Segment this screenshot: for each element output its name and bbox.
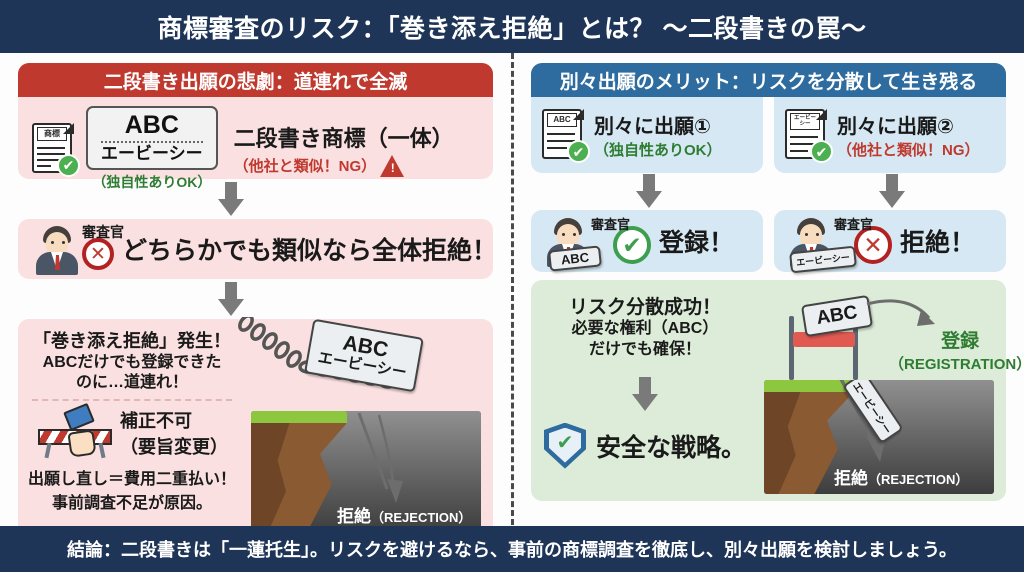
page-title: 商標審査のリスク：「巻き添え拒絶」とは？ ～二段書きの罠～ [158,9,867,45]
app2-doc-label: エービー シー [790,113,820,130]
success-title: リスク分散成功！ [531,292,759,319]
result-line2: ABCだけでも登録できた [18,353,246,373]
left-panel-examiner: 審査官 ✕ どちらかでも類似なら全体拒絶！ [18,219,493,279]
right-panel-header: 別々出願のメリット：リスクを分散して生き残る [531,63,1006,97]
shield-check-icon: ✔ [544,423,586,469]
amendment-barrier-icon [36,407,114,459]
examiner-1-plate: ABC [548,245,602,271]
result-title: 「巻き添え拒絶」発生！ [18,327,246,353]
application-1-document-icon: ABC ✔ [542,109,586,161]
examiner-label: 審査官 [82,222,124,242]
right-panel-success: リスク分散成功！ 必要な権利（ABC） だけでも確保！ ✔ 安全な戦略。 [531,280,1006,501]
conclusion-text: 結論：二段書きは「一蓮托生」。リスクを避けるなら、事前の商標調査を徹底し、別々出… [67,536,957,562]
mark-caption: （独自性ありOK） [86,172,218,192]
conclusion-bar: 結論：二段書きは「一蓮托生」。リスクを避けるなら、事前の商標調査を徹底し、別々出… [0,526,1024,572]
left-arrow-2 [218,282,244,316]
amend-sub: （要旨変更） [120,433,228,459]
trademark-document-icon: 商標 ✔ [32,123,76,175]
app2-sub: （他社と類似！NG） [837,139,980,160]
app1-doc-label: ABC [547,113,577,127]
examiner-1-label: 審査官 [591,214,630,233]
examiner-1-verdict: 登録！ [659,223,734,259]
examiner-avatar-icon [30,224,84,274]
left-panel-title: 二段書き出願の悲劇：道連れで全滅 [104,67,407,94]
examiner-verdict: どちらかでも類似なら全体拒絶！ [122,231,497,267]
examiner-card-2: 審査官 エービーシー ✕ 拒絶！ [774,210,1006,272]
examiner-card-1: 審査官 ABC ✔ 登録！ [531,210,763,272]
registration-label: 登録 （REGISTRATION） [889,326,1024,374]
left-panel-header: 二段書き出願の悲劇：道連れで全滅 [18,63,493,97]
success-line2: 必要な権利（ABC） [531,319,759,340]
mark-sub: （他社と類似！NG） [234,155,377,176]
right-cliff-scene: エービーシー 拒絶（REJECTION） [764,380,994,494]
examiner-2-verdict: 拒絶！ [900,223,975,259]
right-panel-applications: 別々出願のメリット：リスクを分散して生き残る ABC ✔ 別々に出願① [531,63,1006,173]
check-icon: ✔ [810,140,833,163]
app1-sub: （独自性ありOK） [594,139,722,160]
app1-heading: 別々に出願① [594,110,722,139]
warning-icon: ! [380,155,405,177]
application-card-2: エービー シー ✔ 別々に出願② （他社と類似！NG） [774,97,1006,173]
left-arrow-1 [218,182,244,216]
column-divider [511,53,514,525]
strategy-label: 安全な戦略。 [596,428,746,464]
right-arrow-2 [879,174,905,208]
right-arrow-1 [636,174,662,208]
page-title-bar: 商標審査のリスク：「巻き添え拒絶」とは？ ～二段書きの罠～ [0,0,1024,53]
amend-title: 補正不可 [120,407,228,433]
left-panel-result: 「巻き添え拒絶」発生！ ABCだけでも登録できた のに…道連れ！ [18,319,493,540]
right-panel-title: 別々出願のメリット：リスクを分散して生き残る [560,67,977,94]
left-scene-label: 拒絶（REJECTION） [337,502,471,527]
reject-cross-icon: ✕ [82,238,114,270]
check-icon: ✔ [567,140,590,163]
left-column: 二段書き出願の悲劇：道連れで全滅 商標 ✔ ABC [18,63,493,540]
success-line3: だけでも確保！ [531,340,759,361]
application-card-1: ABC ✔ 別々に出願① （独自性ありOK） [531,97,763,173]
check-icon: ✔ [57,154,80,177]
mark-line1: ABC [101,112,203,139]
infographic-root: 商標審査のリスク：「巻き添え拒絶」とは？ ～二段書きの罠～ 二段書き出願の悲劇：… [0,0,1024,572]
left-panel-application: 二段書き出願の悲劇：道連れで全滅 商標 ✔ ABC [18,63,493,179]
examiner-2-label: 審査官 [834,214,873,233]
mark-heading: 二段書き商標（一体） [234,121,454,153]
right-column: 別々出願のメリット：リスクを分散して生き残る ABC ✔ 別々に出願① [531,63,1006,501]
app2-heading: 別々に出願② [837,110,980,139]
cost-line1: 出願し直し＝費用二重払い！ [18,465,246,489]
left-cliff-scene: 拒絶（REJECTION） [251,411,481,533]
application-2-document-icon: エービー シー ✔ [785,109,829,161]
two-line-mark-box: ABC エービーシー [86,106,218,170]
mark-line2: エービーシー [101,145,203,164]
result-line3: のに…道連れ！ [18,373,246,393]
right-arrow-3 [632,377,658,411]
doc-label: 商標 [37,127,67,141]
right-scene-label: 拒絶（REJECTION） [834,464,968,489]
cost-line2: 事前調査不足が原因。 [18,489,246,513]
